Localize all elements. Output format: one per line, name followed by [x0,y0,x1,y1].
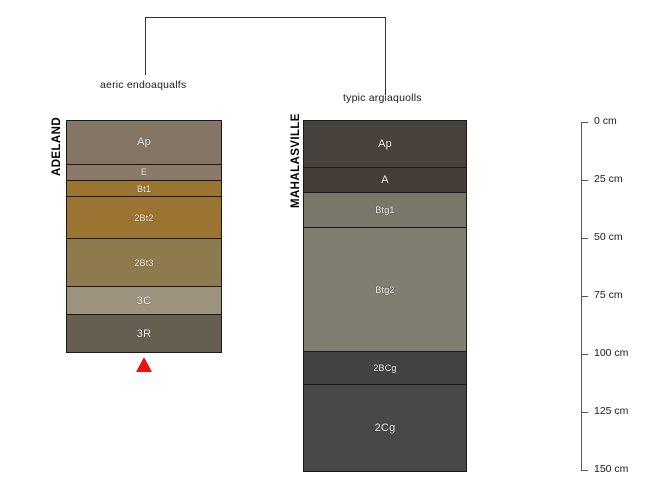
depth-scale-tick [581,354,588,355]
depth-scale-label: 150 cm [594,463,628,475]
horizon-label: 2BCg [373,363,396,373]
taxonomy-label-adeland: aeric endoaqualfs [100,79,186,91]
depth-scale-tick [581,122,588,123]
depth-scale-tick [581,412,588,413]
soil-profile-column-mahalasville[interactable]: ApABtg1Btg22BCg2Cg [303,120,467,472]
soil-horizon[interactable]: 3R [67,315,221,352]
soil-horizon[interactable]: Ap [304,121,466,168]
soil-horizon[interactable]: 2Bt3 [67,239,221,288]
depth-scale-tick [581,296,588,297]
soil-horizon[interactable]: Bt1 [67,181,221,197]
horizon-label: Btg2 [375,285,394,295]
soil-horizon[interactable]: Btg2 [304,228,466,352]
horizon-label: 3R [137,328,151,340]
red-triangle-marker [136,357,152,372]
series-name-adeland: ADELAND [51,117,63,176]
depth-scale-label: 100 cm [594,347,628,359]
soil-horizon[interactable]: 3C [67,287,221,315]
bracket-right-leg [385,17,386,95]
depth-scale-label: 50 cm [594,231,623,243]
horizon-label: Ap [137,136,151,148]
soil-horizon[interactable]: 2Bt2 [67,197,221,239]
depth-scale-label: 75 cm [594,289,623,301]
soil-horizon[interactable]: E [67,165,221,181]
horizon-label: Ap [378,138,392,150]
soil-horizon[interactable]: A [304,168,466,194]
horizon-label: 2Bt2 [134,213,153,223]
depth-scale-label: 25 cm [594,173,623,185]
bracket-left-leg [145,17,146,75]
depth-scale-label: 125 cm [594,405,628,417]
soil-horizon[interactable]: Ap [67,121,221,165]
soil-horizon[interactable]: Btg1 [304,193,466,228]
series-name-mahalasville: MAHALASVILLE [290,113,302,208]
horizon-label: Bt1 [137,184,151,194]
soil-horizon[interactable]: 2Cg [304,385,466,471]
bracket-top-bar [145,17,385,18]
horizon-label: E [141,167,147,177]
soil-profile-figure: aeric endoaqualfs typic argiaquolls ADEL… [0,0,650,500]
depth-scale-tick [581,180,588,181]
horizon-label: Btg1 [375,205,394,215]
depth-scale-label: 0 cm [594,115,617,127]
horizon-label: A [381,174,389,186]
horizon-label: 3C [137,295,151,307]
horizon-label: 2Bt3 [134,258,153,268]
horizon-label: 2Cg [375,422,396,434]
soil-horizon[interactable]: 2BCg [304,352,466,385]
depth-scale-tick [581,238,588,239]
soil-profile-column-adeland[interactable]: ApEBt12Bt22Bt33C3R [66,120,222,353]
depth-scale-tick [581,470,588,471]
taxonomy-label-mahalasville: typic argiaquolls [343,92,422,104]
